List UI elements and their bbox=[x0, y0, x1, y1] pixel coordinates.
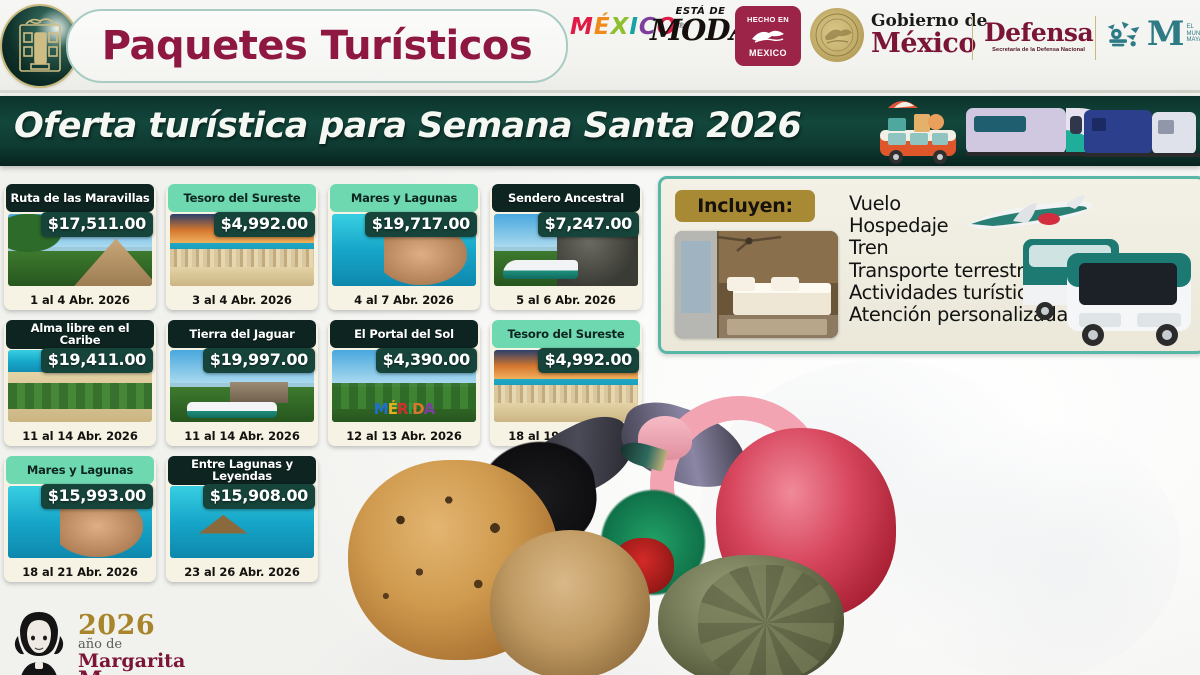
slide-canvas: Paquetes Turísticos M É X I C O ® ESTÁ D… bbox=[0, 0, 1200, 675]
background-watermark bbox=[700, 360, 1060, 660]
package-title-bar: Alma libre en el Caribe bbox=[6, 320, 154, 349]
hecho-en-mexico-logo: HECHO EN MEXICO bbox=[735, 6, 801, 66]
gobierno-line2: México bbox=[871, 30, 987, 57]
package-price-badge: $4,992.00 bbox=[538, 348, 639, 373]
package-price: $19,717.00 bbox=[372, 214, 470, 233]
package-card[interactable]: Tesoro del Sureste $4,992.00 3 al 4 Abr.… bbox=[166, 186, 318, 310]
package-price: $17,511.00 bbox=[48, 214, 146, 233]
package-card[interactable]: Alma libre en el Caribe $19,411.00 11 al… bbox=[4, 322, 156, 446]
sea-turtle-icon bbox=[658, 555, 844, 675]
package-title: Entre Lagunas y Leyendas bbox=[172, 458, 312, 483]
mundo-maya-letter: M bbox=[1147, 17, 1185, 51]
defensa-subtitle: Secretaría de la Defensa Nacional bbox=[984, 47, 1093, 53]
defensa-logo: Defensa Secretaría de la Defensa Naciona… bbox=[984, 20, 1093, 53]
package-title-bar: El Portal del Sol bbox=[330, 320, 478, 348]
package-card[interactable]: Entre Lagunas y Leyendas $15,908.00 23 a… bbox=[166, 458, 318, 582]
package-price: $4,390.00 bbox=[383, 350, 470, 369]
package-card[interactable]: MÉRIDA El Portal del Sol $4,390.00 12 al… bbox=[328, 322, 480, 446]
mayan-glyph-icon bbox=[1104, 14, 1143, 54]
package-price: $4,992.00 bbox=[221, 214, 308, 233]
package-card[interactable]: Ruta de las Maravillas $17,511.00 1 al 4… bbox=[4, 186, 156, 310]
package-price-badge: $17,511.00 bbox=[41, 212, 153, 237]
package-price-badge: $4,390.00 bbox=[376, 348, 477, 373]
package-price-badge: $19,997.00 bbox=[203, 348, 315, 373]
package-dates: 23 al 26 Abr. 2026 bbox=[166, 565, 318, 579]
package-dates: 18 al 19 Abr. 2026 bbox=[490, 429, 642, 443]
includes-badge-label: Incluyen: bbox=[697, 195, 793, 217]
package-title: Sendero Ancestral bbox=[508, 192, 624, 204]
package-price: $15,908.00 bbox=[210, 486, 308, 505]
package-title: Alma libre en el Caribe bbox=[10, 322, 150, 347]
package-price: $15,993.00 bbox=[48, 486, 146, 505]
package-title: Ruta de las Maravillas bbox=[10, 192, 149, 204]
hotel-room-photo bbox=[675, 231, 838, 338]
package-title-bar: Ruta de las Maravillas bbox=[6, 184, 154, 212]
flamingo-icon bbox=[716, 428, 896, 618]
background-watermark bbox=[880, 420, 1180, 675]
page-title-pill: Paquetes Turísticos bbox=[66, 9, 568, 83]
package-dates: 4 al 7 Abr. 2026 bbox=[328, 293, 480, 307]
package-dates: 1 al 4 Abr. 2026 bbox=[4, 293, 156, 307]
package-card[interactable]: Mares y Lagunas $19,717.00 4 al 7 Abr. 2… bbox=[328, 186, 480, 310]
vintage-van-and-trains-icon bbox=[870, 96, 1200, 166]
package-card[interactable]: Mares y Lagunas $15,993.00 18 al 21 Abr.… bbox=[4, 458, 156, 582]
package-title-bar: Tesoro del Sureste bbox=[168, 184, 316, 212]
package-title-bar: Entre Lagunas y Leyendas bbox=[168, 456, 316, 485]
header-bar: Paquetes Turísticos M É X I C O ® ESTÁ D… bbox=[0, 0, 1200, 92]
mundo-maya-sub2: MAYA bbox=[1187, 37, 1200, 44]
package-dates: 18 al 21 Abr. 2026 bbox=[4, 565, 156, 579]
merida-sign-icon: MÉRIDA bbox=[374, 400, 434, 418]
footer-year: 2026 bbox=[78, 612, 185, 639]
logo-divider bbox=[1095, 16, 1096, 60]
package-price-badge: $7,247.00 bbox=[538, 212, 639, 237]
package-dates: 11 al 14 Abr. 2026 bbox=[166, 429, 318, 443]
package-title: El Portal del Sol bbox=[354, 328, 454, 340]
package-card[interactable]: Tierra del Jaguar $19,997.00 11 al 14 Ab… bbox=[166, 322, 318, 446]
year-commemoration-logo: 2026 año de Margarita Maza bbox=[8, 608, 238, 675]
package-card[interactable]: Tesoro del Sureste $4,992.00 18 al 19 Ab… bbox=[490, 322, 642, 446]
package-price-badge: $15,908.00 bbox=[203, 484, 315, 509]
mundo-maya-logo: M EL MUNDO MAYA bbox=[1104, 14, 1200, 54]
header-divider bbox=[0, 90, 1200, 93]
package-dates: 12 al 13 Abr. 2026 bbox=[328, 429, 480, 443]
package-price-badge: $15,993.00 bbox=[41, 484, 153, 509]
package-title-bar: Tesoro del Sureste bbox=[492, 320, 640, 348]
package-title-bar: Sendero Ancestral bbox=[492, 184, 640, 212]
defensa-name: Defensa bbox=[984, 20, 1093, 45]
logo-divider bbox=[972, 16, 973, 60]
package-card[interactable]: Sendero Ancestral $7,247.00 5 al 6 Abr. … bbox=[490, 186, 642, 310]
section-banner: Oferta turística para Semana Santa 2026 bbox=[0, 96, 1200, 166]
package-price: $19,411.00 bbox=[48, 350, 146, 369]
package-dates: 5 al 6 Abr. 2026 bbox=[490, 293, 642, 307]
package-price: $4,992.00 bbox=[545, 350, 632, 369]
package-price-badge: $19,717.00 bbox=[365, 212, 477, 237]
package-title: Mares y Lagunas bbox=[351, 192, 457, 204]
package-price: $7,247.00 bbox=[545, 214, 632, 233]
margarita-maza-portrait-icon bbox=[8, 608, 70, 675]
package-row: Mares y Lagunas $15,993.00 18 al 21 Abr.… bbox=[4, 458, 664, 582]
package-price-badge: $4,992.00 bbox=[214, 212, 315, 237]
page-title: Paquetes Turísticos bbox=[102, 23, 532, 69]
banner-title: Oferta turística para Semana Santa 2026 bbox=[14, 106, 801, 146]
package-row: Alma libre en el Caribe $19,411.00 11 al… bbox=[4, 322, 664, 446]
package-title-bar: Tierra del Jaguar bbox=[168, 320, 316, 348]
national-seal-icon bbox=[810, 8, 864, 62]
package-dates: 11 al 14 Abr. 2026 bbox=[4, 429, 156, 443]
gobierno-de-mexico-logo: Gobierno de México bbox=[810, 8, 987, 62]
tourist-bus-icon bbox=[1019, 223, 1200, 347]
package-title-bar: Mares y Lagunas bbox=[6, 456, 154, 484]
includes-badge: Incluyen: bbox=[675, 190, 815, 222]
package-title: Tesoro del Sureste bbox=[184, 192, 301, 204]
package-price-badge: $19,411.00 bbox=[41, 348, 153, 373]
package-title: Tierra del Jaguar bbox=[189, 328, 294, 340]
package-row: Ruta de las Maravillas $17,511.00 1 al 4… bbox=[4, 186, 664, 310]
package-dates: 3 al 4 Abr. 2026 bbox=[166, 293, 318, 307]
includes-panel: Incluyen: Vuelo bbox=[658, 176, 1200, 354]
background-watermark bbox=[300, 600, 720, 675]
mundo-maya-sub1: EL MUNDO bbox=[1187, 24, 1200, 38]
package-title-bar: Mares y Lagunas bbox=[330, 184, 478, 212]
package-title: Mares y Lagunas bbox=[27, 464, 133, 476]
package-price: $19,997.00 bbox=[210, 350, 308, 369]
eagle-icon bbox=[751, 25, 785, 47]
package-grid: Ruta de las Maravillas $17,511.00 1 al 4… bbox=[4, 186, 664, 594]
package-title: Tesoro del Sureste bbox=[508, 328, 625, 340]
